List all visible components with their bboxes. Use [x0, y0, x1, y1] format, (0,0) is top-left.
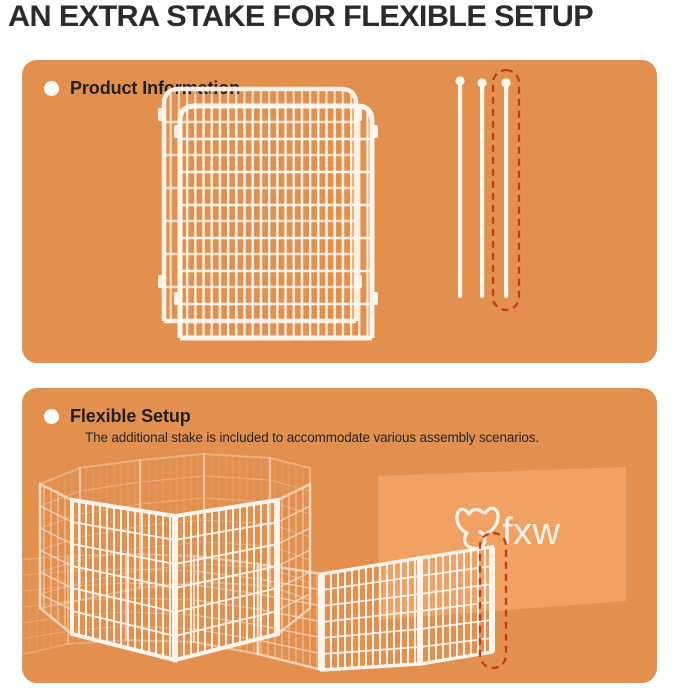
flexible-setup-card: Flexible Setup The additional stake is i… [22, 388, 657, 683]
run-panel-mid-2 [258, 564, 322, 670]
page-title: AN EXTRA STAKE FOR FLEXIBLE SETUP [8, 0, 679, 38]
stake-1 [455, 76, 464, 298]
flexible-setup-illustration: fxw [22, 388, 657, 683]
wire-panel-front [174, 106, 378, 338]
product-information-card: Product Information [22, 60, 657, 363]
run-panel-near-1 [322, 558, 420, 670]
straight-playpen-run [22, 546, 495, 671]
stake-3-highlighted [501, 78, 510, 298]
run-panel-far-3 [126, 554, 194, 642]
run-panel-far-2 [68, 554, 126, 644]
run-panel-far-1 [22, 556, 68, 656]
product-information-illustration [22, 60, 657, 363]
brand-wordmark: fxw [502, 511, 561, 553]
run-panel-near-2 [420, 547, 492, 664]
stake-2 [477, 78, 486, 298]
run-panel-mid-1 [194, 556, 258, 654]
